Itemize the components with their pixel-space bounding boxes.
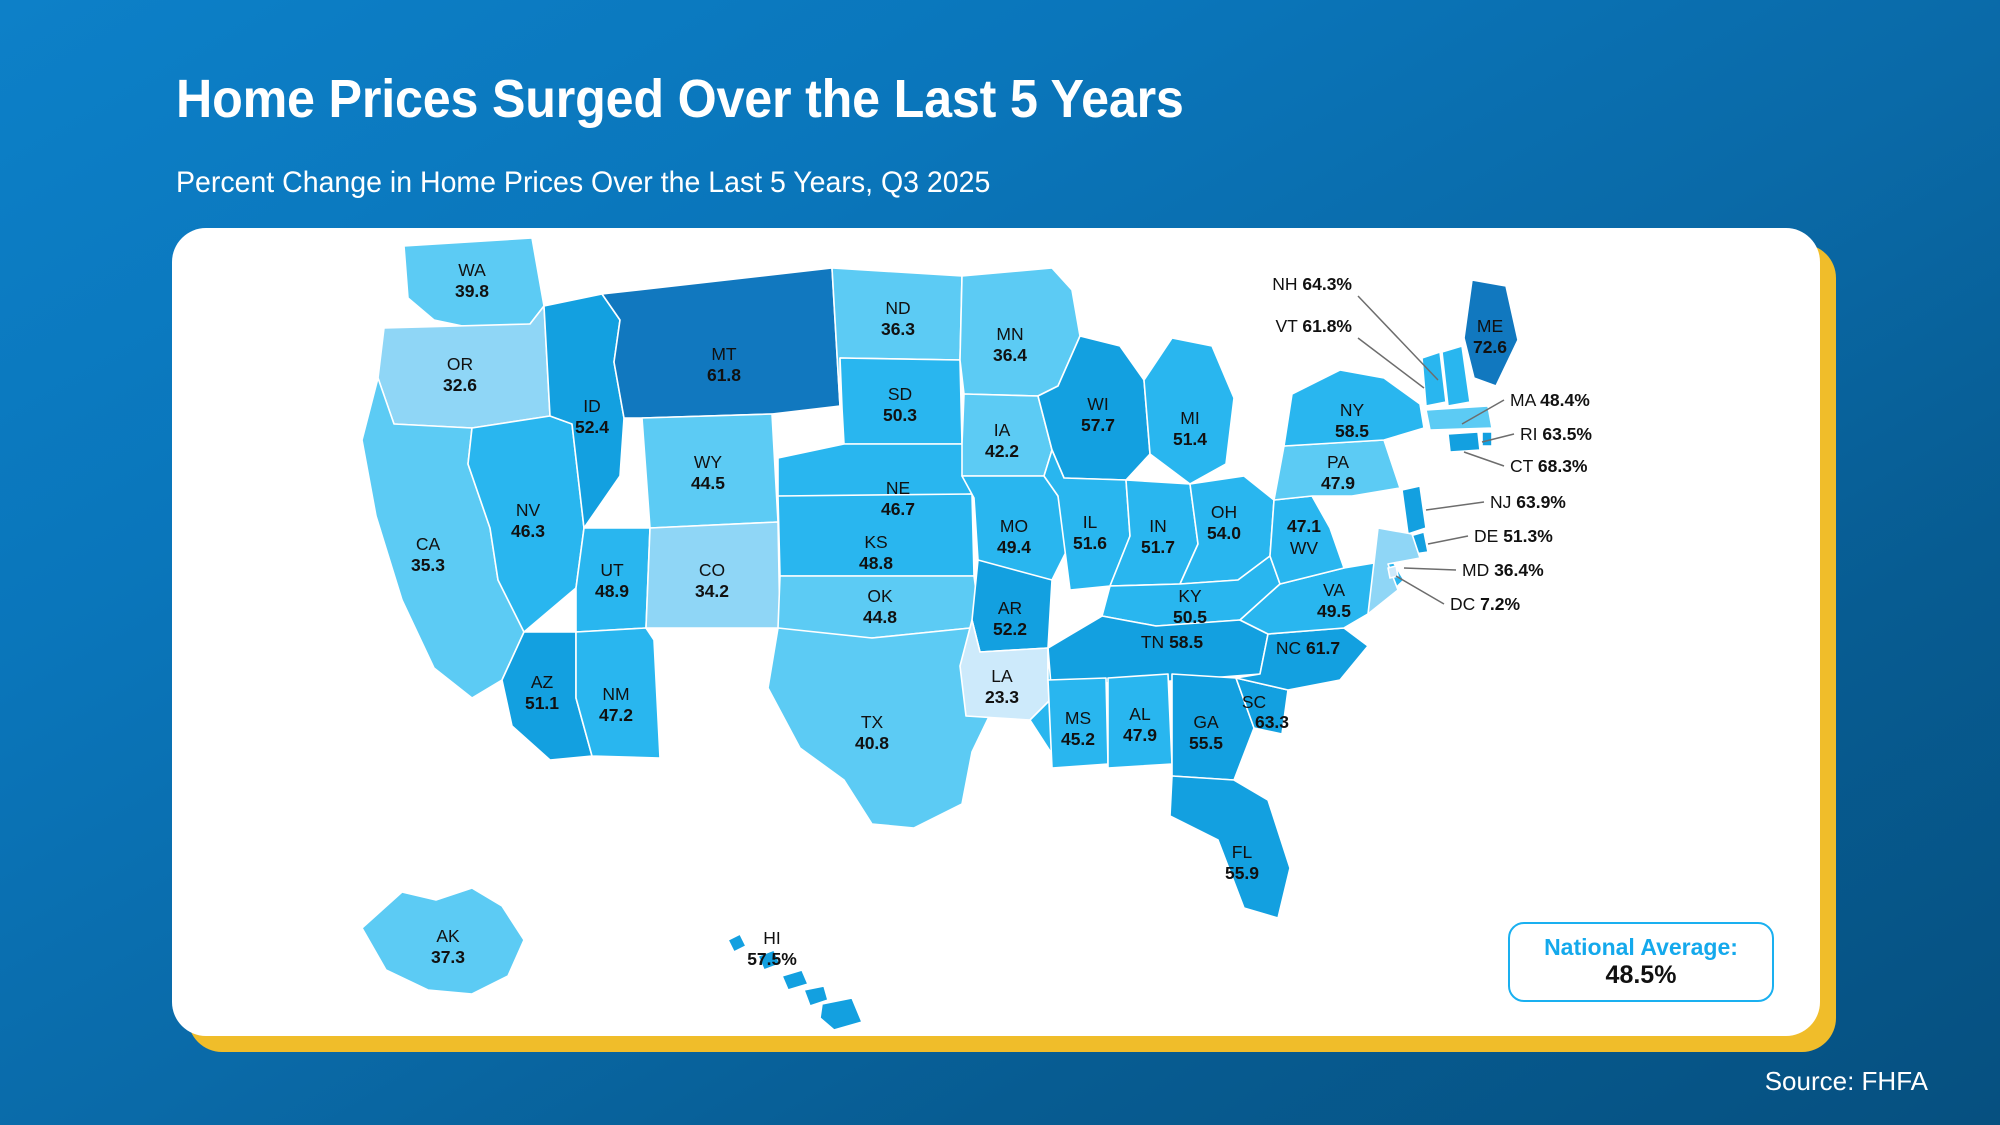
state-label-co: CO (699, 560, 725, 580)
state-value-tx: 40.8 (855, 733, 889, 753)
state-value-ia: 42.2 (985, 441, 1019, 461)
state-value-nd: 36.3 (881, 319, 915, 339)
state-value-wy: 44.5 (691, 473, 725, 493)
state-ut[interactable]: UT 48.9 (576, 528, 650, 632)
state-hi[interactable]: HI 57.5% (728, 934, 746, 952)
callout-vt: VT 61.8% (1275, 316, 1352, 336)
state-label-la: LA (991, 666, 1013, 686)
state-value-ny: 58.5 (1335, 421, 1369, 441)
state-ne[interactable]: NE 46.7 (778, 444, 972, 498)
state-label-al: AL (1129, 704, 1151, 724)
state-ri[interactable]: RI 63.5% (1482, 432, 1492, 446)
callout-nj: NJ 63.9% (1490, 492, 1566, 512)
state-value-az: 51.1 (525, 693, 559, 713)
state-value-ga: 55.5 (1189, 733, 1223, 753)
state-label-mt: MT (711, 344, 737, 364)
us-map-svg[interactable]: WA 39.8OR 32.6CA 35.3NV 46.3ID 52.4MT 61… (172, 228, 1820, 1036)
state-label-sd: SD (888, 384, 912, 404)
state-value-ar: 52.2 (993, 619, 1027, 639)
leader-line-md (1404, 568, 1456, 570)
leader-line-ct (1464, 452, 1504, 466)
state-label-nd: ND (885, 298, 910, 318)
state-value-fl: 55.9 (1225, 863, 1259, 883)
state-nj[interactable]: NJ 63.9% (1402, 486, 1426, 534)
national-average-label: National Average: (1544, 935, 1738, 961)
state-value-wi: 57.7 (1081, 415, 1115, 435)
state-value-me: 72.6 (1473, 337, 1507, 357)
state-value-ne: 46.7 (881, 499, 915, 519)
state-label-ny: NY (1340, 400, 1365, 420)
state-value-wa: 39.8 (455, 281, 489, 301)
state-value-al: 47.9 (1123, 725, 1157, 745)
callout-nh: NH 64.3% (1272, 274, 1352, 294)
callout-ct: CT 68.3% (1510, 456, 1588, 476)
state-label-pa: PA (1327, 452, 1349, 472)
state-label-fl: FL (1232, 842, 1253, 862)
state-label-id: ID (583, 396, 601, 416)
state-label-sc: SC (1242, 692, 1266, 712)
state-label-ak: AK (436, 926, 460, 946)
state-value-oh: 54.0 (1207, 523, 1241, 543)
page-title: Home Prices Surged Over the Last 5 Years (176, 68, 1184, 130)
state-label-mn: MN (996, 324, 1023, 344)
page-subtitle: Percent Change in Home Prices Over the L… (176, 166, 990, 200)
state-ct[interactable]: CT 68.3% (1448, 432, 1480, 452)
state-fl[interactable]: FL 55.9 (1170, 776, 1290, 918)
leader-line-nj (1426, 502, 1484, 510)
national-average-value: 48.5% (1606, 961, 1677, 989)
callout-ma: MA 48.4% (1510, 390, 1590, 410)
state-value-hi: 57.5% (747, 949, 797, 969)
national-average-badge: National Average: 48.5% (1508, 922, 1774, 1002)
state-label-va: VA (1323, 580, 1345, 600)
state-value-sd: 50.3 (883, 405, 917, 425)
state-value-mt: 61.8 (707, 365, 741, 385)
state-label-ga: GA (1193, 712, 1219, 732)
state-mt[interactable]: MT 61.8 (602, 268, 840, 418)
state-label-ne: NE (886, 478, 910, 498)
map-card: WA 39.8OR 32.6CA 35.3NV 46.3ID 52.4MT 61… (172, 228, 1820, 1036)
state-nh[interactable]: NH 64.3% (1442, 346, 1470, 406)
callout-de: DE 51.3% (1474, 526, 1553, 546)
state-label-ca: CA (416, 534, 441, 554)
state-value-nm: 47.2 (599, 705, 633, 725)
state-value-ca: 35.3 (411, 555, 445, 575)
state-hi[interactable]: HI 57.5% (820, 998, 862, 1030)
state-value-ak: 37.3 (431, 947, 465, 967)
state-ma[interactable]: MA 48.4% (1426, 406, 1492, 430)
leader-line-dc (1396, 576, 1444, 604)
state-value-pa: 47.9 (1321, 473, 1355, 493)
callout-dc: DC 7.2% (1450, 594, 1520, 614)
state-label-ms: MS (1065, 708, 1091, 728)
state-label-az: AZ (531, 672, 554, 692)
state-value-mi: 51.4 (1173, 429, 1207, 449)
state-label-me: ME (1477, 316, 1503, 336)
us-choropleth-map[interactable]: WA 39.8OR 32.6CA 35.3NV 46.3ID 52.4MT 61… (172, 228, 1820, 1036)
state-label-nc: NC 61.7 (1276, 638, 1340, 658)
state-value-nv: 46.3 (511, 521, 545, 541)
state-label-wa: WA (458, 260, 486, 280)
state-value-ks: 48.8 (859, 553, 893, 573)
state-value-ut: 48.9 (595, 581, 629, 601)
callout-md: MD 36.4% (1462, 560, 1544, 580)
leader-line-de (1428, 536, 1468, 544)
state-label-wi: WI (1087, 394, 1108, 414)
state-label-oh: OH (1211, 502, 1237, 522)
source-credit: Source: FHFA (1765, 1066, 1928, 1097)
state-value-il: 51.6 (1073, 533, 1107, 553)
state-value-wv: 47.1 (1287, 516, 1321, 536)
state-label-ks: KS (864, 532, 887, 552)
state-value-ok: 44.8 (863, 607, 897, 627)
infographic-root: Home Prices Surged Over the Last 5 Years… (0, 0, 2000, 1125)
state-label-wy: WY (694, 452, 723, 472)
state-value-in: 51.7 (1141, 537, 1175, 557)
state-value-or: 32.6 (443, 375, 477, 395)
state-label-in: IN (1149, 516, 1167, 536)
state-label-il: IL (1083, 512, 1098, 532)
state-label-mo: MO (1000, 516, 1028, 536)
state-value-sc: 63.3 (1255, 712, 1289, 732)
state-hi[interactable]: HI 57.5% (782, 970, 808, 990)
state-label-tx: TX (861, 712, 884, 732)
state-label-or: OR (447, 354, 473, 374)
state-label-hi: HI (763, 928, 781, 948)
state-value-ms: 45.2 (1061, 729, 1095, 749)
state-label-ut: UT (600, 560, 624, 580)
state-value-la: 23.3 (985, 687, 1019, 707)
state-label-ky: KY (1178, 586, 1202, 606)
state-label-ok: OK (867, 586, 893, 606)
state-label-ia: IA (994, 420, 1011, 440)
state-label-nm: NM (602, 684, 629, 704)
state-value-va: 49.5 (1317, 601, 1351, 621)
callout-ri: RI 63.5% (1520, 424, 1592, 444)
state-value-id: 52.4 (575, 417, 609, 437)
state-label-ar: AR (998, 598, 1022, 618)
state-label-nv: NV (516, 500, 541, 520)
state-label-wv: WV (1290, 538, 1319, 558)
state-value-mo: 49.4 (997, 537, 1031, 557)
state-value-co: 34.2 (695, 581, 729, 601)
state-value-mn: 36.4 (993, 345, 1027, 365)
state-label-tn: TN 58.5 (1141, 632, 1204, 652)
state-label-mi: MI (1180, 408, 1199, 428)
state-value-ky: 50.5 (1173, 607, 1207, 627)
